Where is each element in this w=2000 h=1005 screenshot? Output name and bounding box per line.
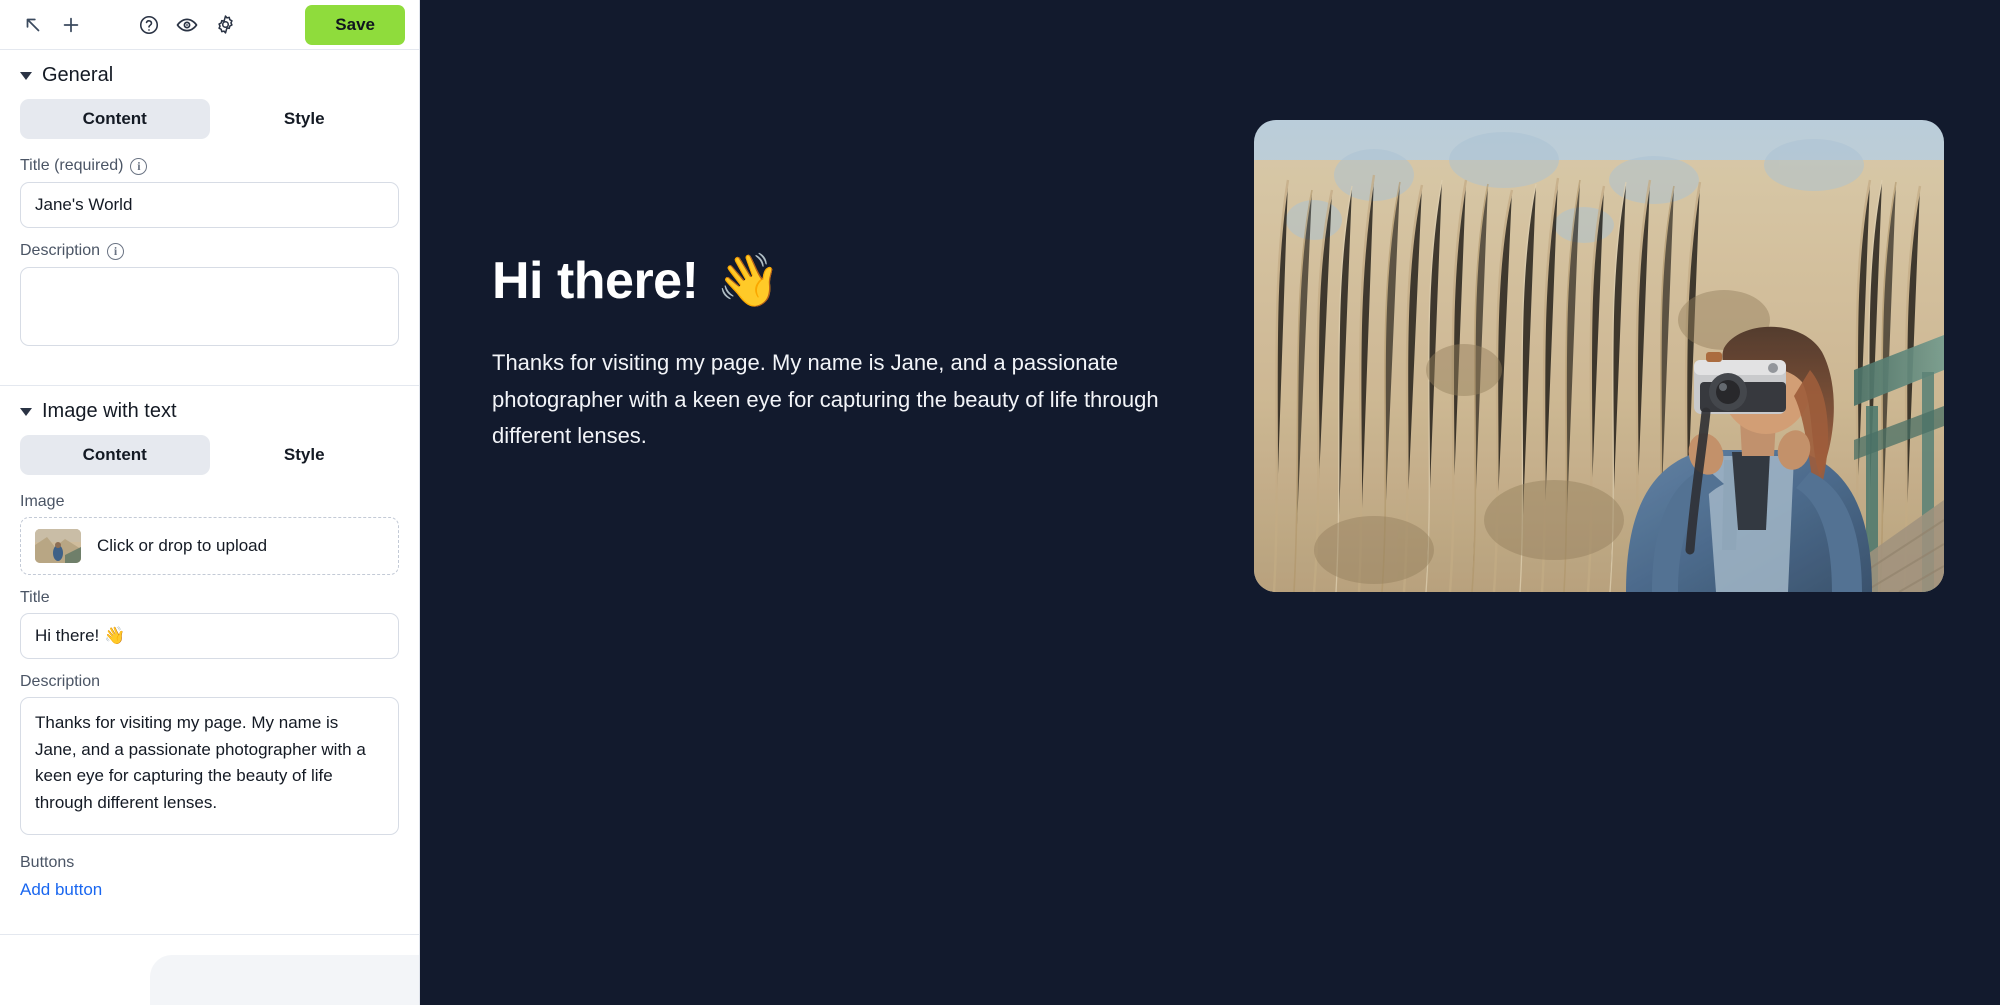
field-image-title: Title <box>20 589 399 659</box>
field-buttons: Buttons Add button <box>20 854 399 900</box>
field-image: Image Click or drop to upload <box>20 493 399 575</box>
decorative-shape <box>150 955 420 1005</box>
hero-text-block: Hi there! 👋 Thanks for visiting my page.… <box>492 120 1182 455</box>
field-general-description: Description i <box>20 242 399 351</box>
field-image-description: Description <box>20 673 399 840</box>
chevron-down-icon[interactable] <box>20 72 32 80</box>
field-general-description-label: Description <box>20 242 100 260</box>
hero-image <box>1254 120 1944 592</box>
settings-panel: General Content Style Title (required) i… <box>0 50 419 1005</box>
hero-heading-text: Hi there! <box>492 251 698 311</box>
field-general-title-label-row: Title (required) i <box>20 157 399 175</box>
section-image-with-text-header[interactable]: Image with text <box>20 400 399 423</box>
editor-toolbar: Save <box>0 0 419 50</box>
tab-general-content[interactable]: Content <box>20 99 210 139</box>
plus-icon[interactable] <box>52 6 90 44</box>
help-icon[interactable] <box>130 6 168 44</box>
field-image-description-label: Description <box>20 673 399 691</box>
field-general-title: Title (required) i <box>20 157 399 228</box>
save-button[interactable]: Save <box>305 5 405 45</box>
hero-section: Hi there! 👋 Thanks for visiting my page.… <box>420 0 2000 592</box>
tab-general-style[interactable]: Style <box>210 99 400 139</box>
gear-icon[interactable] <box>206 6 244 44</box>
tab-image-style[interactable]: Style <box>210 435 400 475</box>
chevron-down-icon[interactable] <box>20 408 32 416</box>
hero-body-text: Thanks for visiting my page. My name is … <box>492 345 1172 455</box>
tab-image-content[interactable]: Content <box>20 435 210 475</box>
section-general: General Content Style Title (required) i… <box>0 50 419 386</box>
info-icon[interactable]: i <box>107 243 124 260</box>
image-dropzone[interactable]: Click or drop to upload <box>20 517 399 575</box>
section-general-header[interactable]: General <box>20 64 399 87</box>
section-image-with-text: Image with text Content Style Image <box>0 386 419 935</box>
eye-icon[interactable] <box>168 6 206 44</box>
tabs-general: Content Style <box>20 99 399 139</box>
image-title-input[interactable] <box>20 613 399 659</box>
section-general-title: General <box>42 64 113 87</box>
info-icon[interactable]: i <box>130 158 147 175</box>
cursor-arrow-icon[interactable] <box>14 6 52 44</box>
general-description-textarea[interactable] <box>20 267 399 346</box>
tabs-image-with-text: Content Style <box>20 435 399 475</box>
image-description-textarea[interactable] <box>20 697 399 835</box>
general-title-input[interactable] <box>20 182 399 228</box>
dropzone-label: Click or drop to upload <box>97 536 267 556</box>
page-preview: Hi there! 👋 Thanks for visiting my page.… <box>420 0 2000 1005</box>
section-image-with-text-title: Image with text <box>42 400 177 423</box>
field-image-label: Image <box>20 493 399 511</box>
field-general-description-label-row: Description i <box>20 242 399 260</box>
waving-hand-emoji: 👋 <box>716 250 780 311</box>
add-button-link[interactable]: Add button <box>20 880 102 900</box>
buttons-label: Buttons <box>20 854 399 872</box>
hero-heading: Hi there! 👋 <box>492 250 1182 311</box>
image-thumbnail <box>35 529 81 563</box>
editor-sidebar: Save General Content Style Title (requir… <box>0 0 420 1005</box>
field-general-title-label: Title (required) <box>20 157 123 175</box>
field-image-title-label: Title <box>20 589 399 607</box>
